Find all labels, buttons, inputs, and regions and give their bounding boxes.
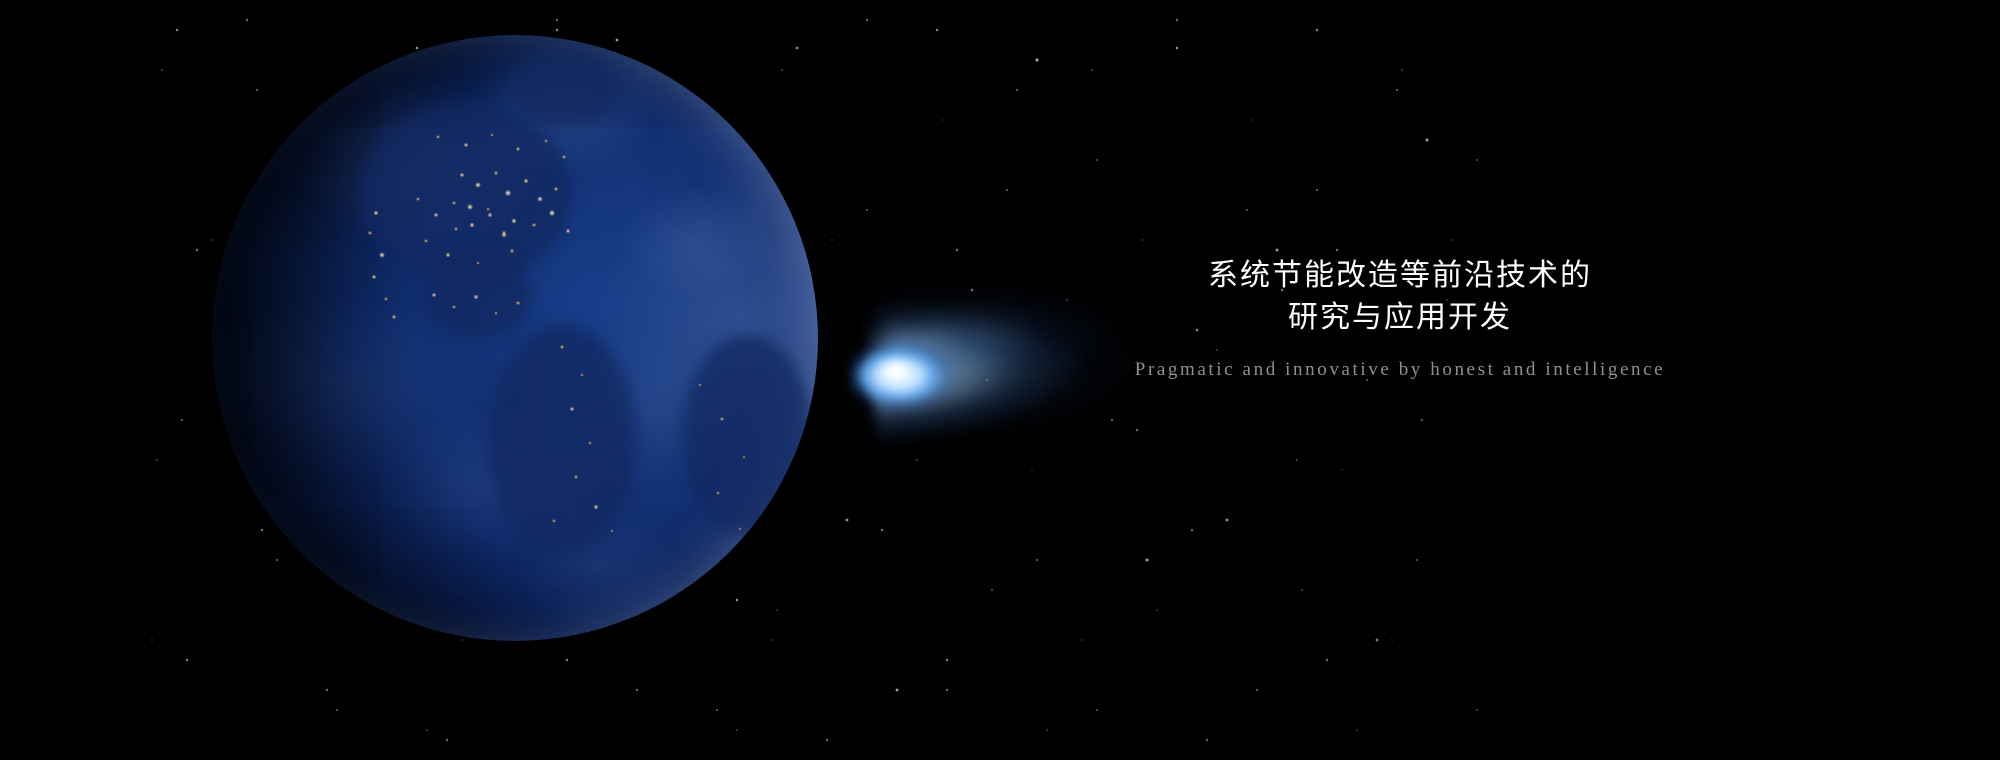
land-south-america: [487, 325, 637, 555]
headline-line-2: 研究与应用开发: [930, 297, 1870, 339]
land-greenland: [512, 55, 622, 125]
comet-nucleus: [873, 356, 919, 388]
banner-copy: 系统节能改造等前沿技术的 研究与应用开发 Pragmatic and innov…: [930, 255, 1870, 381]
headline-line-1: 系统节能改造等前沿技术的: [930, 255, 1870, 297]
banner-stage: 系统节能改造等前沿技术的 研究与应用开发 Pragmatic and innov…: [0, 0, 2000, 760]
land-africa-west: [682, 335, 812, 535]
tagline: Pragmatic and innovative by honest and i…: [930, 359, 1870, 381]
land-central-america: [422, 250, 532, 340]
earth-globe: [212, 35, 818, 641]
